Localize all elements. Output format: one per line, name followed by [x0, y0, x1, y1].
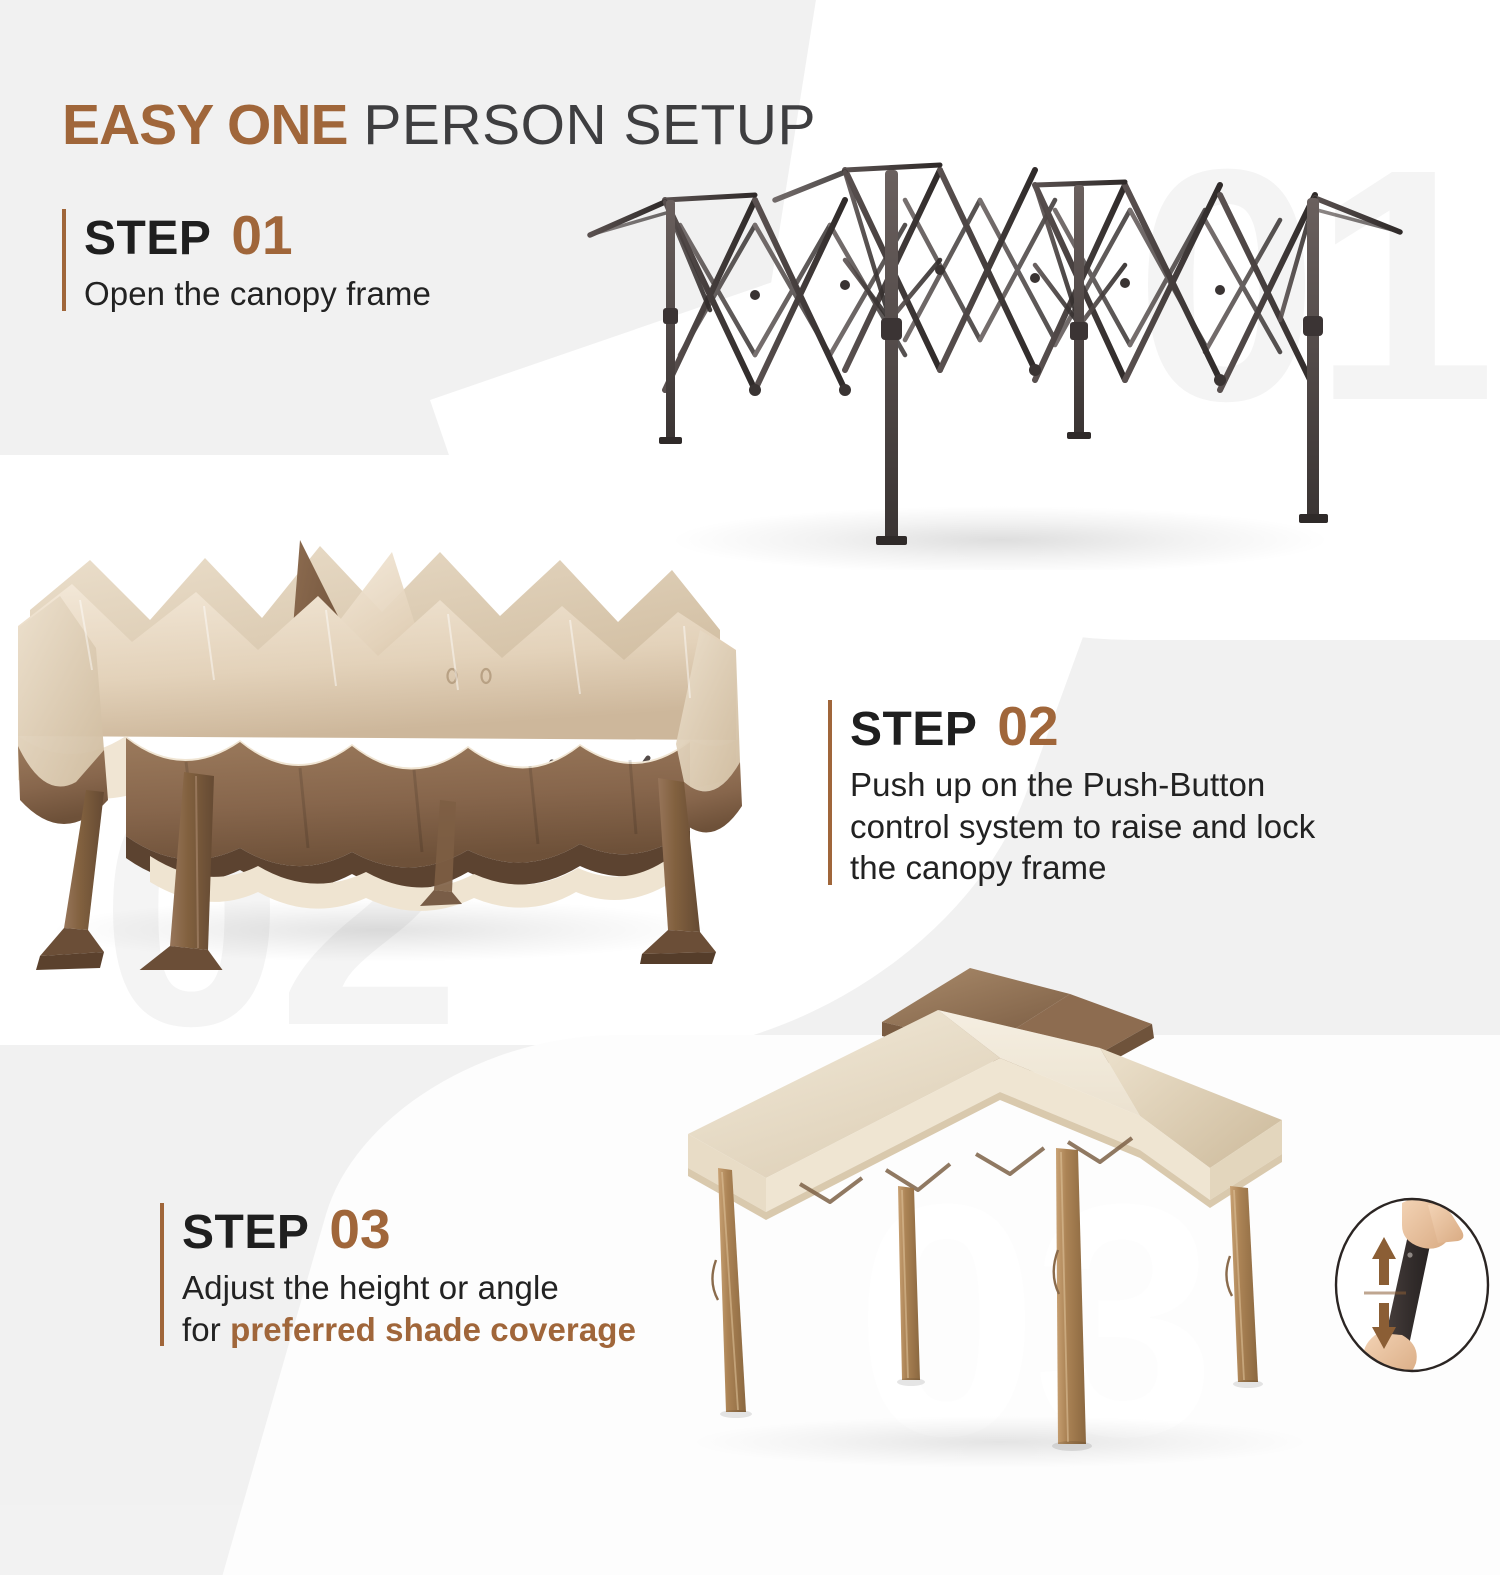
step-03-description: Adjust the height or angle for preferred… — [182, 1267, 636, 1350]
step-03-description-accent: preferred shade coverage — [230, 1311, 636, 1348]
step-01-description-line: Open the canopy frame — [84, 275, 431, 312]
step-03-description-line-1: Adjust the height or angle — [182, 1267, 636, 1309]
step-02-description-line-1: Push up on the Push-Button — [850, 764, 1315, 806]
step-02-description-line-2: control system to raise and lock — [850, 806, 1315, 848]
step-03-number: 03 — [329, 1198, 390, 1260]
step-01-number: 01 — [231, 204, 292, 266]
step-01-label: STEP — [84, 212, 211, 265]
step-03-description-line-2: for preferred shade coverage — [182, 1309, 636, 1351]
step-03-label: STEP — [182, 1206, 309, 1259]
step-02-label: STEP — [850, 703, 977, 756]
step-02-number: 02 — [997, 695, 1058, 757]
infographic-canvas: 01 02 03 — [0, 0, 1500, 1500]
step-02-block: STEP02 Push up on the Push-Button contro… — [828, 694, 1315, 889]
page-title-accent: EASY ONE — [62, 93, 348, 157]
canopy-fabric-illustration — [0, 500, 790, 970]
step-01-description: Open the canopy frame — [84, 273, 431, 315]
step-01-heading: STEP01 — [84, 203, 431, 267]
step-03-block: STEP03 Adjust the height or angle for pr… — [160, 1197, 636, 1350]
gazebo-assembled-illustration — [670, 950, 1370, 1470]
step-03-heading: STEP03 — [182, 1197, 636, 1261]
step-03-description-prefix: for — [182, 1311, 230, 1348]
page-title: EASY ONE PERSON SETUP — [62, 96, 816, 154]
step-01-block: STEP01 Open the canopy frame — [62, 203, 431, 315]
step-02-heading: STEP02 — [850, 694, 1315, 758]
step-02-description: Push up on the Push-Button control syste… — [850, 764, 1315, 889]
step-02-description-line-3: the canopy frame — [850, 847, 1315, 889]
page-title-rest: PERSON SETUP — [363, 93, 816, 157]
leg-height-adjust-inset — [1332, 1193, 1492, 1378]
